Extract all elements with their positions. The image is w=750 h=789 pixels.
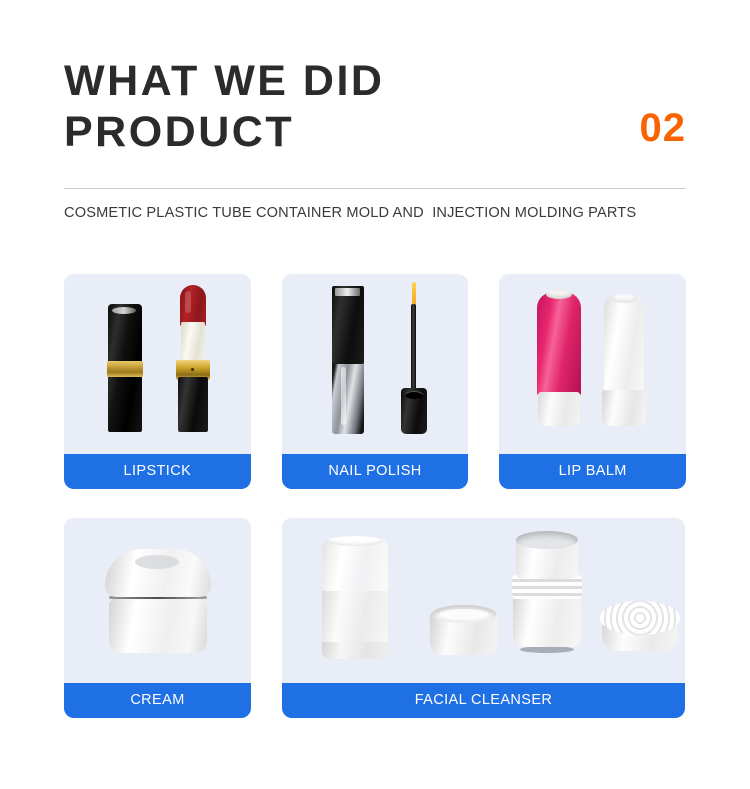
cleanser-jar-icon — [510, 535, 584, 653]
nail-polish-tube-icon — [332, 286, 364, 434]
cleanser-stick-container-icon — [322, 539, 388, 659]
product-card-facial-cleanser[interactable]: FACIAL CLEANSER — [282, 518, 685, 718]
page-title-line1: WHAT WE DID — [64, 58, 686, 105]
product-label-facial-cleanser: FACIAL CLEANSER — [282, 683, 685, 718]
lip-balm-white-tube-icon — [602, 296, 646, 426]
product-grid-row-2: CREAM — [64, 518, 686, 718]
product-label-nail-polish: NAIL POLISH — [282, 454, 469, 489]
lipstick-product-image — [64, 274, 251, 454]
page-title-line2: PRODUCT — [64, 109, 686, 156]
lip-balm-pink-tube-icon — [537, 292, 581, 426]
product-label-lipstick: LIPSTICK — [64, 454, 251, 489]
page-subtitle: COSMETIC PLASTIC TUBE CONTAINER MOLD AND… — [64, 205, 724, 221]
product-section-page: WHAT WE DID PRODUCT 02 COSMETIC PLASTIC … — [0, 0, 750, 789]
product-label-lip-balm: LIP BALM — [499, 454, 686, 489]
product-card-nail-polish[interactable]: NAIL POLISH — [282, 274, 469, 489]
page-header: WHAT WE DID PRODUCT 02 — [64, 58, 686, 156]
product-grid-row-1: LIPSTICK NAIL POLISH — [64, 274, 686, 489]
nail-polish-applicator-icon — [397, 282, 431, 434]
cleanser-ribbed-lid-icon — [600, 601, 680, 653]
lipstick-closed-tube-icon — [108, 304, 142, 432]
nail-polish-product-image — [282, 274, 469, 454]
product-card-lipstick[interactable]: LIPSTICK — [64, 274, 251, 489]
product-label-cream: CREAM — [64, 683, 251, 718]
facial-cleanser-product-image — [282, 518, 685, 683]
cream-jar-product-image — [64, 518, 251, 683]
product-card-cream[interactable]: CREAM — [64, 518, 251, 718]
section-number: 02 — [640, 108, 687, 148]
product-grid: LIPSTICK NAIL POLISH — [64, 274, 686, 718]
lip-balm-product-image — [499, 274, 686, 454]
product-card-lip-balm[interactable]: LIP BALM — [499, 274, 686, 489]
title-block: WHAT WE DID PRODUCT 02 — [64, 58, 686, 156]
lipstick-open-tube-icon — [176, 287, 210, 432]
header-divider — [64, 188, 686, 189]
cream-jar-icon — [105, 549, 211, 653]
cleanser-cap-icon — [430, 605, 498, 655]
